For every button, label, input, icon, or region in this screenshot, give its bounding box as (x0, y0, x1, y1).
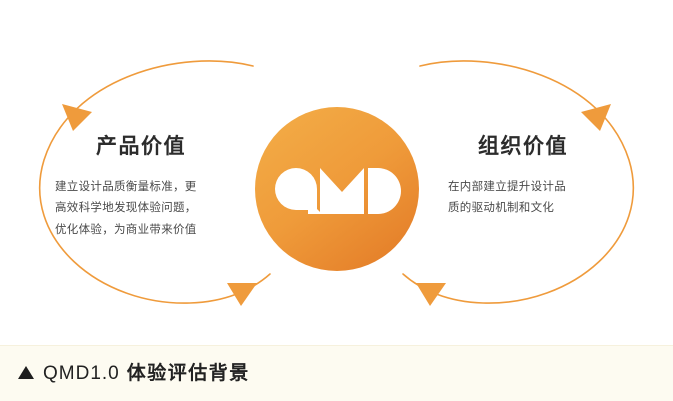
arrow-head-left-bottom (227, 283, 257, 306)
left-value-block: 产品价值 建立设计品质衡量标准，更 高效科学地发现体验问题， 优化体验，为商业带… (36, 134, 246, 241)
page-title-cn: 体验评估背景 (127, 363, 250, 384)
right-value-description: 在内部建立提升设计品 质的驱动机制和文化 (448, 177, 598, 220)
page-title: QMD1.0体验评估背景 (43, 358, 250, 385)
triangle-up-icon (18, 366, 34, 379)
right-value-description-line: 质的驱动机制和文化 (448, 198, 598, 219)
left-value-description-line: 优化体验，为商业带来价值 (55, 220, 227, 241)
slide-root: 产品价值 建立设计品质衡量标准，更 高效科学地发现体验问题， 优化体验，为商业带… (0, 0, 673, 400)
left-value-description: 建立设计品质衡量标准，更 高效科学地发现体验问题， 优化体验，为商业带来价值 (55, 177, 227, 241)
footer-title-group: QMD1.0体验评估背景 (18, 358, 250, 385)
center-circle (255, 107, 419, 271)
right-value-block: 组织价值 在内部建立提升设计品 质的驱动机制和文化 (418, 134, 628, 220)
left-value-description-line: 建立设计品质衡量标准，更 (55, 177, 227, 198)
left-value-description-line: 高效科学地发现体验问题， (55, 198, 227, 219)
arrow-head-left-top (62, 104, 92, 131)
diagram-stage: 产品价值 建立设计品质衡量标准，更 高效科学地发现体验问题， 优化体验，为商业带… (0, 0, 673, 340)
left-value-heading: 产品价值 (36, 134, 246, 159)
right-value-description-line: 在内部建立提升设计品 (448, 177, 598, 198)
arrow-head-right-bottom (416, 283, 446, 306)
arrow-head-right-top (581, 104, 611, 131)
right-value-heading: 组织价值 (418, 134, 628, 159)
footer-band: QMD1.0体验评估背景 (0, 345, 673, 401)
page-title-latin: QMD1.0 (43, 363, 120, 384)
